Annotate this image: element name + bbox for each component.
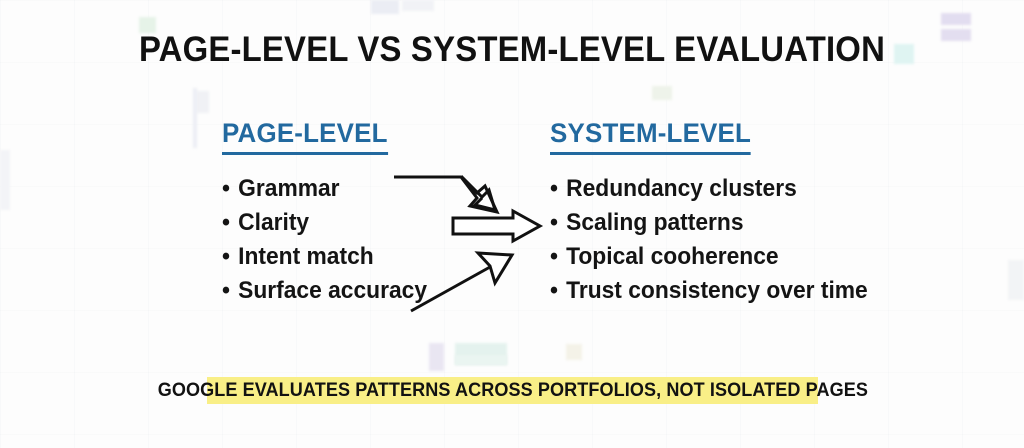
list-item: •Surface accuracy [222, 274, 427, 308]
artifact-block-11 [455, 343, 507, 365]
middle-block-arrow-icon [453, 211, 540, 241]
column-heading-system-level: SYSTEM-LEVEL [550, 118, 751, 155]
list-item-label: Redundancy clusters [566, 175, 797, 202]
bullet-dot-icon: • [550, 274, 566, 308]
bullet-dot-icon: • [222, 240, 238, 274]
artifact-block-7 [196, 91, 209, 113]
artifact-block-10 [429, 343, 444, 371]
artifact-block-2 [402, 0, 434, 11]
artifact-block-14 [0, 150, 10, 210]
artifact-block-12 [455, 355, 507, 365]
list-item: •Scaling patterns [550, 206, 868, 240]
list-item: •Grammar [222, 172, 427, 206]
list-item-label: Surface accuracy [238, 277, 427, 304]
list-item-label: Scaling patterns [566, 209, 743, 236]
bullet-dot-icon: • [222, 172, 238, 206]
bullet-dot-icon: • [222, 274, 238, 308]
banner-text: GOOGLE EVALUATES PATTERNS ACROSS PORTFOL… [157, 380, 867, 402]
bullet-list-system-level: •Redundancy clusters •Scaling patterns •… [550, 172, 884, 308]
bullet-dot-icon: • [550, 206, 566, 240]
bullet-dot-icon: • [550, 172, 566, 206]
bullet-dot-icon: • [550, 240, 566, 274]
list-item: •Topical cooherence [550, 240, 868, 274]
slide-canvas: PAGE-LEVEL VS SYSTEM-LEVEL EVALUATION PA… [0, 0, 1024, 448]
list-item: •Clarity [222, 206, 427, 240]
list-item-label: Intent match [238, 243, 374, 270]
artifact-block-4 [941, 13, 971, 25]
artifact-block-1 [371, 0, 399, 14]
artifact-block-8 [652, 86, 672, 100]
column-heading-page-level: PAGE-LEVEL [222, 118, 388, 155]
artifact-block-15 [1008, 260, 1024, 300]
artifact-block-9 [193, 88, 197, 148]
list-item: •Intent match [222, 240, 427, 274]
column-page-level: PAGE-LEVEL •Grammar •Clarity •Intent mat… [222, 118, 438, 308]
list-item-label: Trust consistency over time [566, 277, 868, 304]
highlight-banner: GOOGLE EVALUATES PATTERNS ACROSS PORTFOL… [207, 377, 818, 404]
column-system-level: SYSTEM-LEVEL •Redundancy clusters •Scali… [550, 118, 884, 308]
list-item-label: Grammar [238, 175, 339, 202]
artifact-block-13 [566, 344, 582, 360]
list-item: •Redundancy clusters [550, 172, 868, 206]
bullet-dot-icon: • [222, 206, 238, 240]
bullet-list-page-level: •Grammar •Clarity •Intent match •Surface… [222, 172, 438, 308]
list-item: •Trust consistency over time [550, 274, 868, 308]
list-item-label: Clarity [238, 209, 309, 236]
page-title: PAGE-LEVEL VS SYSTEM-LEVEL EVALUATION [31, 30, 994, 70]
list-item-label: Topical cooherence [566, 243, 778, 270]
